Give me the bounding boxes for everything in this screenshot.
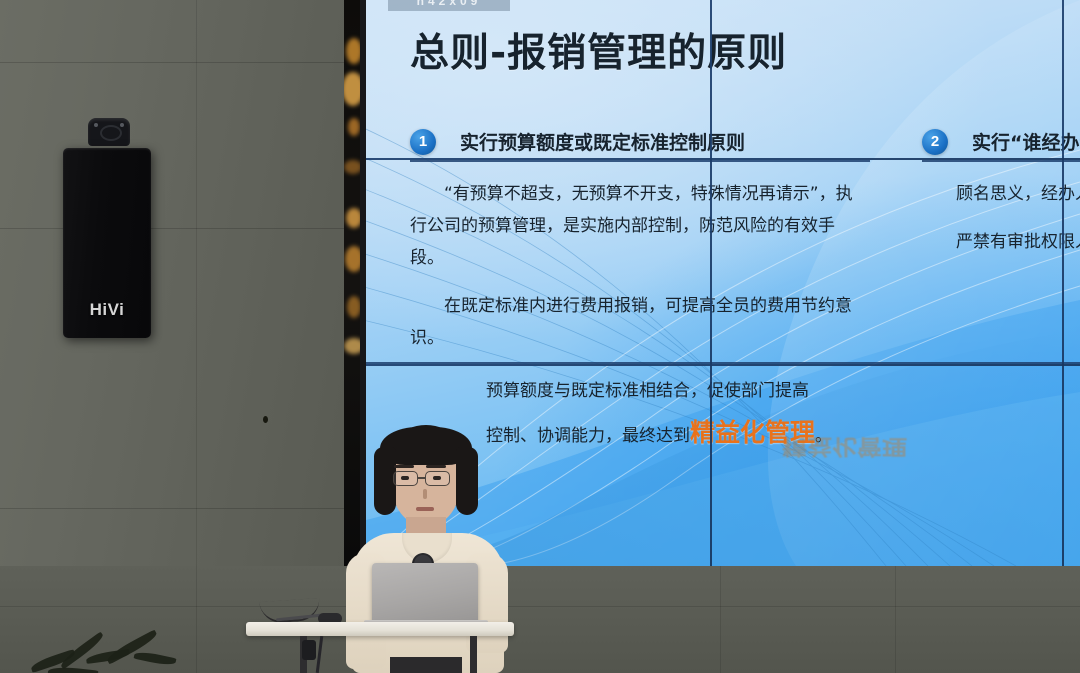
presenter-nose [423, 489, 427, 499]
column-1-number-badge: 1 [410, 129, 436, 155]
lower-wall-seam [196, 566, 197, 673]
presentation-room-photo: HiVi [0, 0, 1080, 673]
column-1-paragraph-2: 在既定标准内进行费用报销，可提高全员的费用节约意识。 [410, 290, 860, 354]
desk-leg [470, 636, 477, 673]
summary-highlight-reflection: 精益化管理 [782, 433, 907, 464]
presenter-eyebrow-right [426, 465, 446, 468]
wall-panel-seam [0, 228, 352, 229]
video-wall-seam-horizontal [366, 364, 1080, 366]
column-1-underline [410, 160, 870, 162]
presenter-hair-right [456, 447, 478, 515]
speaker-bracket [88, 118, 130, 146]
slide-column-2: 2 实行“谁经办谁 顾名思义，经办人亲己提起报销申请，不得由外。 严禁有审批权限… [922, 128, 1080, 258]
wall-fixture-dot [263, 416, 268, 423]
presenter-trousers [390, 657, 462, 673]
bracket-screw [120, 123, 124, 127]
microphone-base [302, 640, 316, 660]
column-2-header: 2 实行“谁经办谁 [922, 128, 1080, 162]
slide-summary-block: 预算额度与既定标准相结合，促使部门提高 控制、协调能力，最终达到精益化管理。 精… [486, 370, 1080, 457]
presenter-mouth [416, 507, 434, 511]
lower-wall-seam [720, 566, 721, 673]
column-2-paragraph-2: 严禁有审批权限人员填报，自己审批。 [922, 226, 1080, 258]
bracket-screw [94, 123, 98, 127]
column-2-paragraph-1: 顾名思义，经办人亲己提起报销申请，不得由外。 [922, 178, 1080, 210]
video-wall-seam-vertical [1062, 0, 1064, 566]
standing-desk-top [246, 622, 514, 636]
lower-wall-seam [895, 566, 896, 673]
slide-title: 总则-报销管理的原则 [410, 22, 787, 78]
column-1-heading: 实行预算额度或既定标准控制原则 [460, 128, 745, 155]
summary-line-1: 预算额度与既定标准相结合，促使部门提高 [486, 370, 1080, 412]
speaker-brand-label: HiVi [63, 300, 151, 320]
lower-wall-seam [0, 606, 1080, 607]
glasses-bridge [418, 477, 426, 479]
wall-panel-seam [0, 508, 352, 509]
column-1-paragraph-1: “有预算不超支，无预算不开支，特殊情况再请示”，执行公司的预算管理，是实施内部控… [410, 178, 860, 274]
slide-column-1: 1 实行预算额度或既定标准控制原则 “有预算不超支，无预算不开支，特殊情况再请示… [410, 128, 860, 354]
video-wall-seam-vertical [710, 0, 712, 566]
wall-panel-seam [0, 62, 352, 63]
column-1-header: 1 实行预算额度或既定标准控制原则 [410, 128, 860, 162]
slide-watermark: h42x09 [388, 0, 510, 11]
foreground-plant [30, 640, 180, 673]
hivi-speaker: HiVi [63, 148, 151, 338]
laptop-screen[interactable] [372, 563, 478, 625]
presenter-eye-left [401, 476, 409, 480]
presenter-eye-right [433, 476, 441, 480]
video-wall-seam-horizontal [366, 158, 1080, 160]
column-2-underline [922, 160, 1080, 162]
presenter-eyebrow-left [394, 465, 414, 468]
column-2-number-badge: 2 [922, 129, 948, 155]
